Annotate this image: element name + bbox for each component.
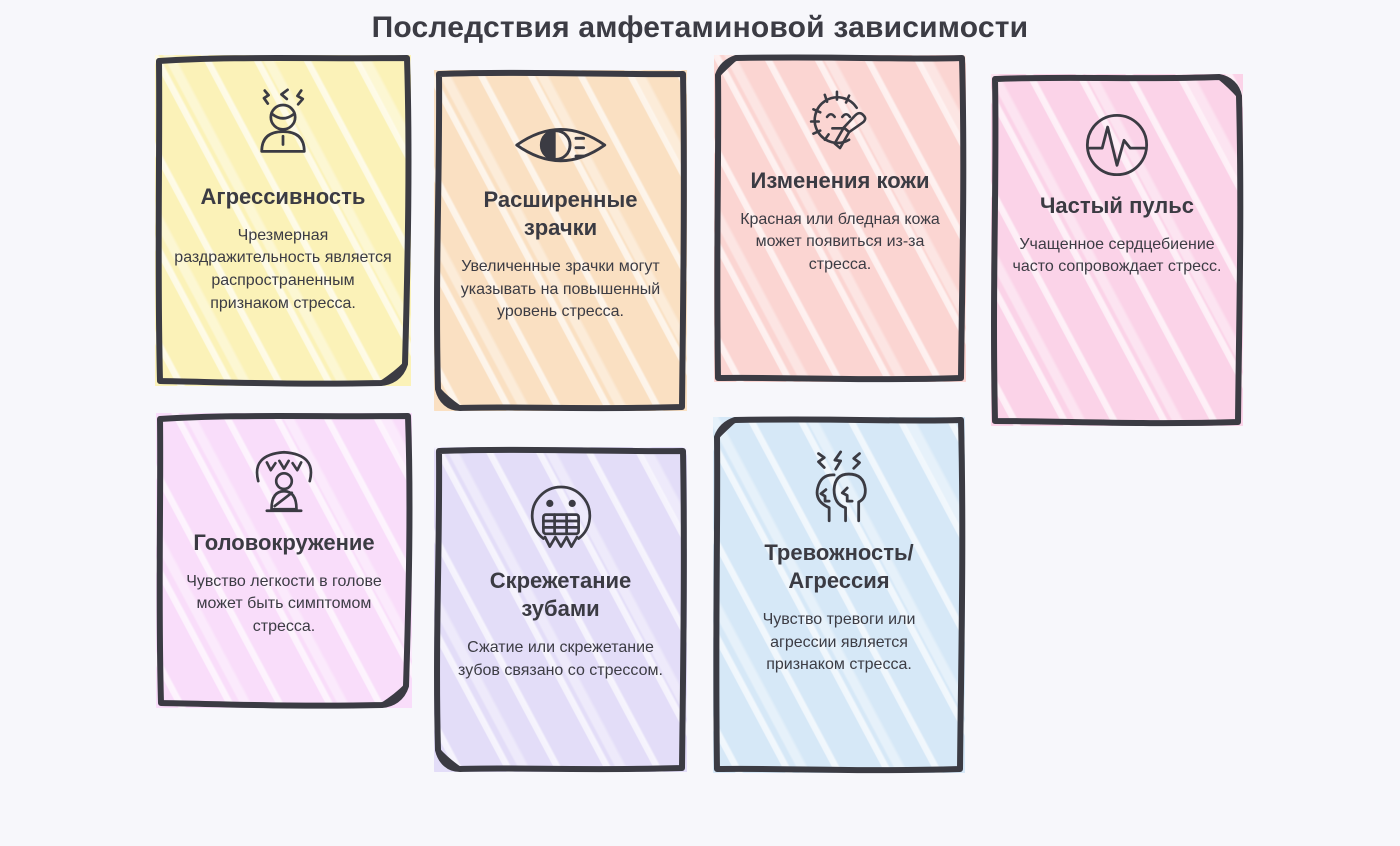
angry-person-icon	[171, 83, 395, 159]
card-title: Расширенные зрачки	[450, 186, 671, 242]
card-description: Чрезмерная раздражительность является ра…	[171, 225, 395, 316]
dizzy-person-icon	[172, 439, 396, 517]
face-brush-icon	[730, 85, 950, 161]
card-title: Скрежетание зубами	[450, 567, 671, 623]
card-title: Частый пульс	[1007, 192, 1227, 220]
symptom-card-skin-changes[interactable]: Изменения кожи Красная или бледная кожа …	[714, 55, 966, 382]
symptom-card-fast-pulse[interactable]: Частый пульс Учащенное сердцебиение част…	[991, 74, 1243, 426]
card-description: Чувство тревоги или агрессии является пр…	[729, 609, 949, 677]
card-title: Изменения кожи	[730, 167, 950, 195]
page-title: Последствия амфетаминовой зависимости	[0, 0, 1400, 48]
card-description: Сжатие или скрежетание зубов связано со …	[450, 637, 671, 682]
pulse-circle-icon	[1007, 106, 1227, 184]
symptom-card-dizziness[interactable]: Головокружение Чувство легкости в голове…	[156, 413, 412, 708]
grinding-teeth-icon	[450, 473, 671, 553]
symptom-card-aggression[interactable]: Агрессивность Чрезмерная раздражительнос…	[155, 55, 411, 386]
symptom-card-anxiety-aggression[interactable]: Тревожность/ Агрессия Чувство тревоги ил…	[713, 417, 965, 773]
card-title: Тревожность/ Агрессия	[729, 539, 949, 595]
card-title: Агрессивность	[171, 183, 395, 211]
card-description: Учащенное сердцебиение часто сопровождае…	[1007, 234, 1227, 279]
card-description: Чувство легкости в голове может быть сим…	[172, 571, 396, 639]
symptom-card-teeth-grinding[interactable]: Скрежетание зубами Сжатие или скрежетани…	[434, 447, 687, 772]
card-title: Головокружение	[172, 529, 396, 557]
symptom-card-dilated-pupils[interactable]: Расширенные зрачки Увеличенные зрачки мо…	[434, 70, 687, 411]
two-heads-lightning-icon	[729, 447, 949, 529]
eye-icon	[450, 110, 671, 180]
card-description: Увеличенные зрачки могут указывать на по…	[450, 256, 671, 324]
card-description: Красная или бледная кожа может появиться…	[730, 209, 950, 277]
cards-board: Агрессивность Чрезмерная раздражительнос…	[0, 48, 1400, 788]
